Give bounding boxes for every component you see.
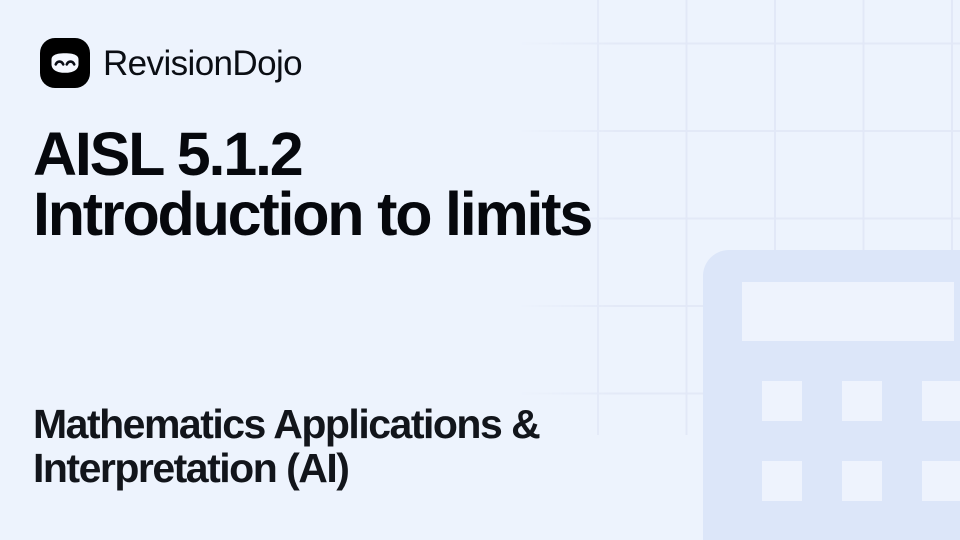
lesson-title: AISL 5.1.2 Introduction to limits bbox=[33, 125, 593, 245]
calculator-illustration bbox=[703, 250, 960, 540]
calculator-screen bbox=[742, 282, 954, 341]
lesson-cover-slide: RevisionDojo AISL 5.1.2 Introduction to … bbox=[0, 0, 960, 540]
brand-lockup: RevisionDojo bbox=[40, 38, 302, 88]
calculator-key bbox=[842, 461, 882, 501]
calculator-key bbox=[922, 461, 960, 501]
cover-content: RevisionDojo AISL 5.1.2 Introduction to … bbox=[0, 0, 660, 540]
calculator-keypad bbox=[762, 381, 960, 501]
calculator-key bbox=[762, 461, 802, 501]
revisiondojo-ninja-mask-icon bbox=[40, 38, 90, 88]
course-subtitle: Mathematics Applications & Interpretatio… bbox=[33, 403, 673, 491]
calculator-key bbox=[922, 381, 960, 421]
calculator-key bbox=[842, 381, 882, 421]
calculator-key bbox=[762, 381, 802, 421]
brand-name: RevisionDojo bbox=[103, 46, 302, 81]
